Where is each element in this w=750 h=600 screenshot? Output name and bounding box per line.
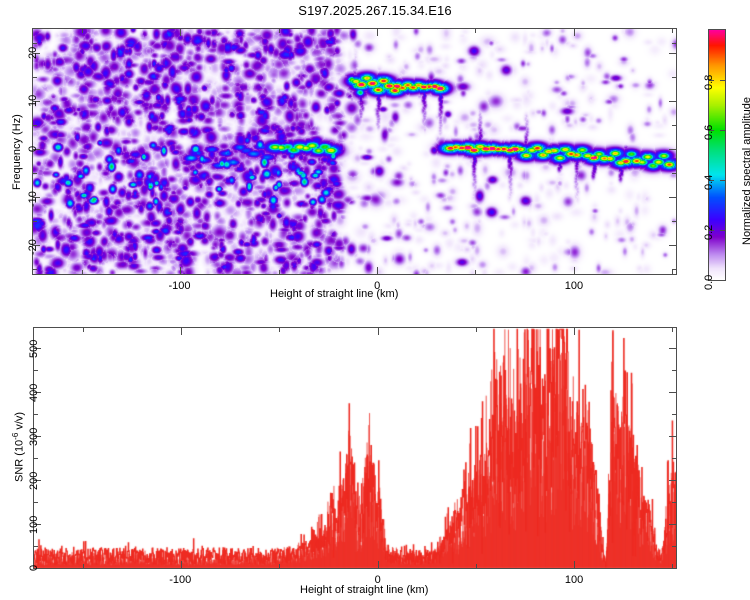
axis-tick xyxy=(181,328,182,335)
axis-tick xyxy=(672,546,676,547)
axis-tick xyxy=(34,458,38,459)
snr-ytick-label: 400 xyxy=(28,383,40,401)
spectrogram-ytick-label: 0 xyxy=(27,146,39,152)
snr-xtick-label: -100 xyxy=(169,574,191,586)
axis-tick xyxy=(672,43,676,44)
axis-tick xyxy=(82,270,83,274)
spectrogram-ylabel: Frequency (Hz) xyxy=(11,114,23,190)
axis-tick xyxy=(669,197,676,198)
axis-tick xyxy=(34,546,38,547)
axis-tick xyxy=(34,414,38,415)
axis-tick xyxy=(672,370,676,371)
axis-tick xyxy=(574,561,575,568)
axis-tick xyxy=(672,125,676,126)
axis-tick xyxy=(669,568,676,569)
axis-tick xyxy=(33,173,37,174)
colorbar-tick-label: 0.4 xyxy=(703,175,715,190)
axis-tick xyxy=(180,29,181,36)
spectrogram-ytick-label: -10 xyxy=(27,191,39,207)
axis-tick xyxy=(672,29,673,33)
axis-tick xyxy=(33,43,37,44)
axis-tick xyxy=(82,29,83,33)
colorbar-canvas xyxy=(709,30,725,280)
spectrogram-ytick-label: 10 xyxy=(27,95,39,107)
axis-tick xyxy=(672,77,676,78)
axis-tick xyxy=(669,392,676,393)
axis-tick xyxy=(377,29,378,36)
axis-tick xyxy=(574,267,575,274)
spectrogram-ytick-label: -20 xyxy=(27,239,39,255)
axis-tick xyxy=(377,267,378,274)
axis-tick xyxy=(669,348,676,349)
axis-tick xyxy=(476,328,477,332)
axis-tick xyxy=(669,53,676,54)
axis-tick xyxy=(180,267,181,274)
colorbar-label: Normalized spectral amplitude xyxy=(741,97,750,245)
axis-tick xyxy=(574,29,575,36)
axis-tick xyxy=(669,149,676,150)
axis-tick xyxy=(33,269,37,270)
axis-tick xyxy=(574,328,575,335)
axis-tick xyxy=(720,130,725,131)
axis-tick xyxy=(475,29,476,33)
snr-ytick-label: 200 xyxy=(28,471,40,489)
axis-tick xyxy=(476,564,477,568)
axis-tick xyxy=(378,561,379,568)
snr-ylabel-prefix: SNR (10 xyxy=(14,440,26,482)
spectrogram-xtick-label: -100 xyxy=(168,280,190,292)
axis-tick xyxy=(34,502,38,503)
axis-tick xyxy=(672,328,673,332)
axis-tick xyxy=(669,101,676,102)
snr-ytick-label: 0 xyxy=(28,565,40,571)
figure-title: S197.2025.267.15.34.E16 xyxy=(0,3,750,18)
axis-tick xyxy=(83,564,84,568)
axis-tick xyxy=(672,458,676,459)
snr-ytick-label: 100 xyxy=(28,516,40,534)
axis-tick xyxy=(669,436,676,437)
colorbar-tick-label: 0.0 xyxy=(703,275,715,290)
figure-root: S197.2025.267.15.34.E16 Frequency (Hz) H… xyxy=(0,0,750,600)
axis-tick xyxy=(672,414,676,415)
axis-tick xyxy=(669,480,676,481)
snr-ytick-label: 300 xyxy=(28,427,40,445)
axis-tick xyxy=(33,77,37,78)
snr-xtick-label: 100 xyxy=(565,574,583,586)
axis-tick xyxy=(669,245,676,246)
colorbar-tick-label: 0.2 xyxy=(703,225,715,240)
colorbar-tick-label: 0.6 xyxy=(703,125,715,140)
spectrogram-xtick-label: 0 xyxy=(374,280,380,292)
snr-ylabel-exponent: -6 xyxy=(11,433,20,440)
axis-tick xyxy=(279,29,280,33)
snr-xtick-label: 0 xyxy=(375,574,381,586)
snr-xlabel: Height of straight line (km) xyxy=(300,584,428,596)
axis-tick xyxy=(720,180,725,181)
axis-tick xyxy=(720,280,725,281)
spectrogram-ytick-label: 20 xyxy=(27,47,39,59)
axis-tick xyxy=(279,564,280,568)
snr-ylabel-suffix: v/v) xyxy=(14,412,26,433)
axis-tick xyxy=(672,269,676,270)
snr-ytick-label: 500 xyxy=(28,339,40,357)
snr-canvas xyxy=(34,328,676,568)
axis-tick xyxy=(672,270,673,274)
axis-tick xyxy=(33,221,37,222)
axis-tick xyxy=(672,173,676,174)
axis-tick xyxy=(33,125,37,126)
colorbar-tick-label: 0.8 xyxy=(703,75,715,90)
axis-tick xyxy=(672,502,676,503)
snr-ylabel: SNR (10-6 v/v) xyxy=(11,412,26,482)
axis-tick xyxy=(181,561,182,568)
axis-tick xyxy=(672,221,676,222)
axis-tick xyxy=(669,524,676,525)
axis-tick xyxy=(475,270,476,274)
spectrogram-xtick-label: 100 xyxy=(565,280,583,292)
axis-tick xyxy=(720,80,725,81)
spectrogram-canvas xyxy=(33,29,676,274)
axis-tick xyxy=(279,328,280,332)
axis-tick xyxy=(34,370,38,371)
axis-tick xyxy=(83,328,84,332)
axis-tick xyxy=(279,270,280,274)
axis-tick xyxy=(720,230,725,231)
axis-tick xyxy=(378,328,379,335)
